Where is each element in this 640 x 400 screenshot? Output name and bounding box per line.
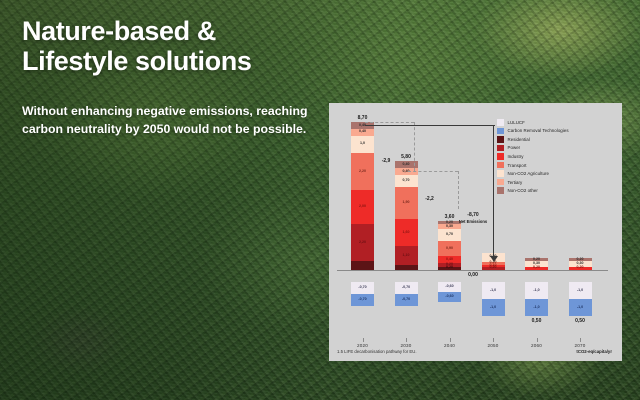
legend-item-label: Carbon Removal Technologies — [508, 128, 569, 133]
x-axis-tick — [580, 338, 581, 342]
negative-segment-2040-0[interactable]: -0,60 — [438, 282, 461, 292]
x-axis-label-2040: 2040 — [430, 343, 470, 348]
net-value-2070: 0,50 — [557, 318, 603, 324]
bar-segment-value: 1,10 — [403, 254, 410, 258]
net-connector-arrowhead — [490, 256, 498, 262]
bar-segment-2040-3[interactable]: 0,90 — [438, 241, 461, 256]
headline-block: Nature-based &Lifestyle solutions Withou… — [22, 16, 322, 138]
bar-segment-value: 2,20 — [359, 241, 366, 245]
legend-item-3[interactable]: Power — [497, 144, 569, 153]
bar-segment-value: 0,30 — [446, 225, 453, 229]
bar-segment-value: 0,70 — [446, 233, 453, 237]
negative-bar-2020[interactable]: -0,70-0,70 — [351, 282, 374, 306]
legend-item-label: Industry — [508, 154, 524, 159]
legend-item-label: Transport — [508, 163, 527, 168]
negative-segment-2060-1[interactable]: -1,0 — [525, 299, 548, 316]
annotation-net-zero-2050: 0,00 — [453, 272, 493, 278]
bar-segment-2030-2[interactable]: 0,70 — [395, 175, 418, 187]
x-axis-label-2070: 2070 — [560, 343, 600, 348]
stacked-bar-2030[interactable]: 0,400,400,701,901,601,10 — [395, 161, 418, 270]
negative-segment-value: -1,0 — [533, 289, 539, 293]
legend-swatch-icon — [497, 170, 504, 177]
bar-segment-value: 0,20 — [577, 266, 584, 270]
negative-segment-2050-1[interactable]: -1,0 — [482, 299, 505, 316]
bar-segment-value: 0,40 — [359, 130, 366, 134]
bar-segment-2030-6[interactable] — [395, 265, 418, 270]
annotation-reduction-2040: -2,2 — [410, 196, 450, 202]
bar-segment-value: 0,20 — [446, 266, 453, 270]
legend-swatch-icon — [497, 153, 504, 160]
legend-item-4[interactable]: Industry — [497, 152, 569, 161]
negative-segment-value: -0,70 — [358, 286, 366, 290]
negative-segment-2060-0[interactable]: -1,0 — [525, 282, 548, 299]
negative-segment-value: -1,0 — [490, 289, 496, 293]
negative-segment-2070-0[interactable]: -1,0 — [569, 282, 592, 299]
bar-segment-value: 0,20 — [533, 266, 540, 270]
stacked-bar-2060[interactable]: 0,200,300,20 — [525, 258, 548, 270]
legend-item-8[interactable]: Non-CO2 other — [497, 186, 569, 195]
x-axis-label-2030: 2030 — [386, 343, 426, 348]
bar-segment-2030-3[interactable]: 1,90 — [395, 187, 418, 219]
net-value-2060: 0,50 — [514, 318, 560, 324]
negative-bar-2070[interactable]: -1,0-1,0 — [569, 282, 592, 316]
bar-segment-2060-2[interactable]: 0,20 — [525, 267, 548, 270]
bar-segment-2050-3[interactable]: 0,20 — [482, 267, 505, 270]
legend-item-6[interactable]: Non-CO2 Agriculture — [497, 169, 569, 178]
negative-segment-2030-1[interactable]: -0,70 — [395, 294, 418, 306]
negative-segment-value: -0,60 — [445, 285, 453, 289]
chart-panel: 0,400,401,02,202,002,208,70-0,70-0,70202… — [329, 103, 622, 361]
negative-segment-value: -0,70 — [358, 298, 366, 302]
bar-segment-value: 2,00 — [359, 205, 366, 209]
x-axis-tick — [406, 338, 407, 342]
page-subtitle: Without enhancing negative emissions, re… — [22, 103, 322, 138]
bar-segment-2030-4[interactable]: 1,60 — [395, 219, 418, 246]
bar-segment-value: 0,20 — [490, 266, 497, 270]
bar-segment-2020-4[interactable]: 2,00 — [351, 190, 374, 224]
chart-footnote: 1.5 LIFE decarbonisation pathway for EU. — [337, 349, 417, 354]
negative-bar-2040[interactable]: -0,60-0,60 — [438, 282, 461, 302]
bar-segment-2020-5[interactable]: 2,20 — [351, 224, 374, 261]
bar-segment-value: 0,70 — [403, 179, 410, 183]
x-axis-tick — [363, 338, 364, 342]
bar-segment-value: 0,40 — [446, 258, 453, 262]
negative-segment-2050-0[interactable]: -1,0 — [482, 282, 505, 299]
legend-swatch-icon — [497, 179, 504, 186]
connector-2030-2040-dashed — [408, 171, 458, 172]
legend-swatch-icon — [497, 145, 504, 152]
negative-segment-value: -1,0 — [577, 306, 583, 310]
x-axis-label-2020: 2020 — [343, 343, 383, 348]
stacked-bar-2020[interactable]: 0,400,401,02,202,002,20 — [351, 122, 374, 270]
negative-segment-2020-1[interactable]: -0,70 — [351, 294, 374, 306]
negative-segment-value: -0,70 — [402, 298, 410, 302]
bar-segment-value: 1,0 — [360, 142, 365, 146]
legend-item-label: Non-CO2 other — [508, 188, 538, 193]
chart-legend: LULUCFCarbon Removal TechnologiesResiden… — [497, 118, 569, 195]
bar-segment-value: 1,60 — [403, 231, 410, 235]
stacked-bar-2070[interactable]: 0,200,300,20 — [569, 258, 592, 270]
legend-swatch-icon — [497, 128, 504, 135]
bar-segment-value: 2,20 — [359, 170, 366, 174]
legend-item-1[interactable]: Carbon Removal Technologies — [497, 127, 569, 136]
x-axis-label-2050: 2050 — [473, 343, 513, 348]
x-axis-tick — [450, 338, 451, 342]
bar-segment-value: 0,90 — [446, 247, 453, 251]
negative-segment-2020-0[interactable]: -0,70 — [351, 282, 374, 294]
x-axis-tick — [537, 338, 538, 342]
negative-segment-value: -0,60 — [445, 295, 453, 299]
legend-item-label: Tertiary — [508, 180, 523, 185]
connector-2030-vertical-dashed — [414, 122, 415, 171]
legend-item-2[interactable]: Residential — [497, 135, 569, 144]
negative-bar-2030[interactable]: -0,70-0,70 — [395, 282, 418, 306]
chart-plot-area: 0,400,401,02,202,002,208,70-0,70-0,70202… — [329, 103, 622, 361]
bar-segment-2020-2[interactable]: 1,0 — [351, 136, 374, 153]
negative-segment-value: -1,0 — [533, 306, 539, 310]
chart-baseline-axis — [337, 270, 608, 271]
net-connector-vertical — [493, 125, 494, 258]
legend-swatch-icon — [497, 187, 504, 194]
bar-segment-2030-5[interactable]: 1,10 — [395, 246, 418, 265]
net-emissions-caption: Net Emissions — [453, 219, 493, 224]
bar-segment-2040-2[interactable]: 0,70 — [438, 229, 461, 241]
x-axis-label-2060: 2060 — [517, 343, 557, 348]
bar-segment-2020-1[interactable]: 0,40 — [351, 129, 374, 136]
negative-segment-value: -0,70 — [402, 286, 410, 290]
bar-segment-value: 1,90 — [403, 201, 410, 205]
negative-segment-value: -1,0 — [577, 289, 583, 293]
legend-item-label: LULUCF — [508, 120, 525, 125]
connector-2020-2030-dashed — [365, 122, 415, 123]
bar-segment-2070-2[interactable]: 0,20 — [569, 267, 592, 270]
net-emissions-value: -8,70 — [453, 212, 493, 218]
negative-segment-2040-1[interactable]: -0,60 — [438, 292, 461, 302]
negative-bar-2050[interactable]: -1,0-1,0 — [482, 282, 505, 316]
legend-item-5[interactable]: Transport — [497, 161, 569, 170]
legend-swatch-icon — [497, 136, 504, 143]
legend-item-7[interactable]: Tertiary — [497, 178, 569, 187]
stacked-bar-2040[interactable]: 0,200,300,700,900,400,200,20 — [438, 221, 461, 270]
annotation-reduction-2030: -2,9 — [366, 158, 406, 164]
annotation-net-emissions: -8,70Net Emissions — [453, 212, 493, 224]
connector-2040-vertical-dashed — [458, 171, 459, 208]
net-connector-horizontal — [365, 125, 496, 126]
legend-item-0[interactable]: LULUCF — [497, 118, 569, 127]
legend-swatch-icon — [497, 119, 504, 126]
bar-segment-2020-6[interactable] — [351, 261, 374, 270]
chart-unit-label: tCO2-eq/capita/yr — [576, 349, 612, 354]
negative-segment-2070-1[interactable]: -1,0 — [569, 299, 592, 316]
legend-swatch-icon — [497, 162, 504, 169]
bar-segment-2040-6[interactable]: 0,20 — [438, 267, 461, 270]
negative-bar-2060[interactable]: -1,0-1,0 — [525, 282, 548, 316]
x-axis-tick — [493, 338, 494, 342]
bar-total-2020: 8,70 — [340, 115, 386, 121]
legend-item-label: Power — [508, 145, 521, 150]
page-title: Nature-based &Lifestyle solutions — [22, 16, 322, 76]
legend-item-label: Non-CO2 Agriculture — [508, 171, 549, 176]
negative-segment-value: -1,0 — [490, 306, 496, 310]
legend-item-label: Residential — [508, 137, 530, 142]
negative-segment-2030-0[interactable]: -0,70 — [395, 282, 418, 294]
